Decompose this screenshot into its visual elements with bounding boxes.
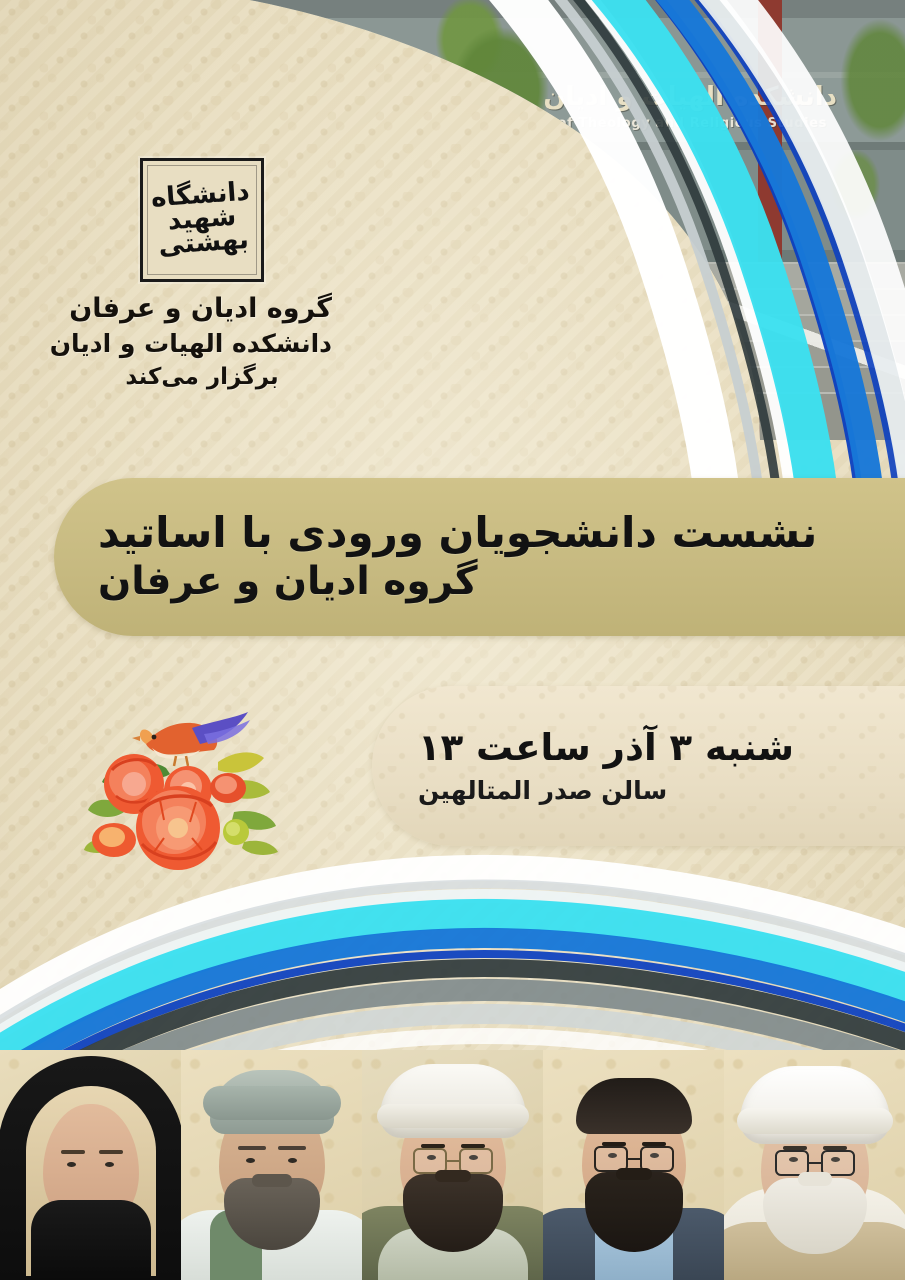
- speaker-portrait-5: [0, 1050, 181, 1280]
- speaker-portrait-1: [724, 1050, 905, 1280]
- speaker-portrait-strip: [0, 1050, 905, 1280]
- flower-bottom-right: [223, 819, 249, 845]
- university-logo-script: دانشگاه شهید بهشتی: [139, 157, 265, 283]
- speaker-portrait-3: [362, 1050, 543, 1280]
- university-logo: دانشگاه شهید بهشتی: [140, 158, 264, 282]
- speaker-portrait-4: [181, 1050, 362, 1280]
- event-venue: سالن صدر المتالهین: [418, 776, 667, 806]
- title-banner: نشست دانشجویان ورودی با اساتید گروه ادیا…: [54, 478, 905, 636]
- organizer-action: برگزار می‌کند: [72, 363, 332, 392]
- event-title-line2: گروه ادیان و عرفان: [98, 560, 478, 605]
- event-datetime: شنبه ۳ آذر ساعت ۱۳: [418, 726, 794, 770]
- event-title-line1: نشست دانشجویان ورودی با اساتید: [98, 509, 817, 556]
- organizer-block: دانشگاه شهید بهشتی گروه ادیان و عرفان دا…: [72, 158, 332, 392]
- flower-bottom-left: [92, 823, 136, 857]
- flower-and-bird-icon: [68, 692, 298, 872]
- flower-main: [136, 786, 220, 870]
- speaker-portrait-2: [543, 1050, 724, 1280]
- building-sign-persian: دانشکده الهیات و ادیان: [543, 82, 837, 112]
- date-venue-banner: شنبه ۳ آذر ساعت ۱۳ سالن صدر المتالهین: [372, 686, 905, 846]
- flower-bud-right: [210, 773, 246, 803]
- organizer-faculty: دانشکده الهیات و ادیان: [72, 328, 332, 359]
- organizer-department: گروه ادیان و عرفان: [72, 292, 332, 326]
- dark-hair: [576, 1078, 692, 1134]
- event-poster: دانشکده الهیات و ادیان Faculty of Theolo…: [0, 0, 905, 1280]
